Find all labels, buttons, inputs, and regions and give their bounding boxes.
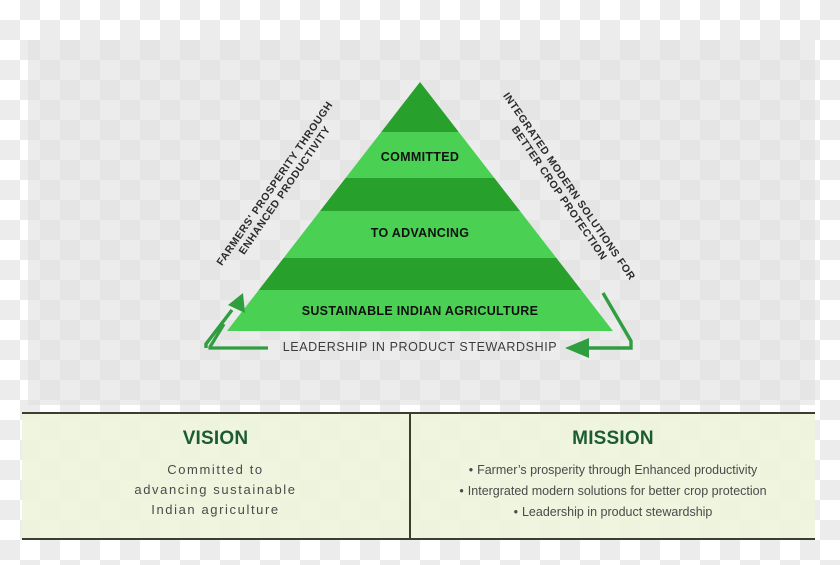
mission-bullet-list: Farmer’s prosperity through Enhanced pro… — [411, 460, 815, 523]
pyramid-label-committed: COMMITTED — [0, 150, 840, 164]
leadership-stewardship-caption: LEADERSHIP IN PRODUCT STEWARDSHIP — [0, 340, 840, 354]
pyramid-label-to-advancing: TO ADVANCING — [0, 226, 840, 240]
diagram-canvas: FARMERS' PROSPERITY THROUGH ENHANCED PRO… — [0, 0, 840, 565]
mission-panel: MISSION Farmer’s prosperity through Enha… — [411, 414, 815, 538]
vision-heading: VISION — [22, 428, 409, 450]
list-item: Leadership in product stewardship — [411, 502, 815, 523]
list-item: Intergrated modern solutions for better … — [411, 481, 815, 502]
vision-line-3: Indian agriculture — [22, 500, 409, 520]
pyramid-label-sustainable-indian-agriculture: SUSTAINABLE INDIAN AGRICULTURE — [0, 304, 840, 318]
vision-line-2: advancing sustainable — [22, 480, 409, 500]
list-item: Farmer’s prosperity through Enhanced pro… — [411, 460, 815, 481]
pyramid-label-committed-text: COMMITTED — [381, 150, 459, 164]
vision-panel: VISION Committed to advancing sustainabl… — [22, 414, 409, 538]
vision-mission-box: VISION Committed to advancing sustainabl… — [22, 412, 815, 540]
leadership-stewardship-text: LEADERSHIP IN PRODUCT STEWARDSHIP — [283, 340, 557, 354]
mission-heading: MISSION — [411, 428, 815, 450]
vision-line-1: Committed to — [22, 460, 409, 480]
pyramid-label-sustainable-text: SUSTAINABLE INDIAN AGRICULTURE — [302, 304, 539, 318]
vision-statement: Committed to advancing sustainable India… — [22, 460, 409, 520]
pyramid-label-to-advancing-text: TO ADVANCING — [371, 226, 470, 240]
